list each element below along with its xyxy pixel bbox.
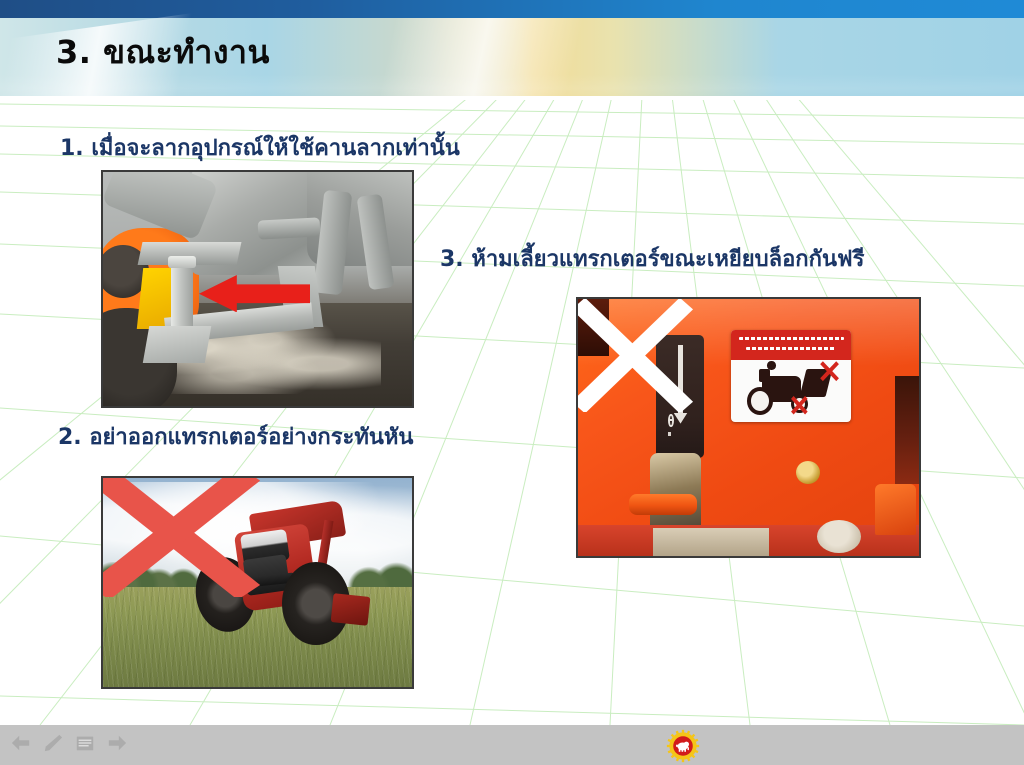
differential-lock-pedal-photo[interactable] (576, 297, 921, 558)
photo-3-content (578, 299, 919, 556)
red-x-annotation-icon (101, 476, 264, 597)
photo-3-brass-bolt (796, 461, 820, 484)
red-arrow-annotation-icon (199, 275, 310, 312)
slide-menu-icon[interactable] (74, 733, 96, 753)
decal-x-mark-lower-icon (791, 396, 808, 415)
photo-2-rear-implement (330, 593, 370, 626)
photo-1-pto-shaft (257, 217, 320, 239)
photo-1-drawbar-bracket (143, 326, 211, 363)
photo-3-decal-part-number (668, 432, 673, 436)
previous-slide-icon[interactable] (10, 733, 32, 753)
pictogram-operator-head (767, 361, 775, 369)
pen-annotation-icon[interactable] (42, 733, 64, 753)
next-slide-icon[interactable] (106, 733, 128, 753)
photo-1-hitch-pin (171, 261, 193, 331)
header-underline (0, 96, 1024, 100)
presentation-slide: 3. ขณะทำงาน 1. เมื่อจะลากอุปกรณ์ให้ใช้คา… (0, 0, 1024, 765)
header-top-band (0, 0, 1024, 18)
photo-3-warning-decal-header (731, 330, 850, 361)
point-3-caption: 3. ห้ามเลี้ยวแทรกเตอร์ขณะเหยียบล็อกกันฟร… (440, 247, 864, 272)
photo-3-warning-decal (731, 330, 850, 423)
photo-1-content (103, 172, 412, 406)
point-2-caption: 2. อย่าออกแทรกเตอร์อย่างกระทันหัน (58, 425, 413, 450)
pictogram-seat (759, 369, 770, 382)
photo-1-hitch-pin-head (168, 256, 196, 268)
photo-2-content (103, 478, 412, 687)
decal-x-mark-upper-icon (820, 361, 839, 381)
photo-3-diff-lock-pedal (629, 494, 697, 515)
photo-3-floor-plate (653, 528, 769, 556)
slideshow-toolbar (0, 725, 1024, 765)
white-x-annotation-icon (576, 299, 694, 412)
differential-lock-symbol-icon (668, 414, 674, 428)
slideshow-toolbar-icons (10, 733, 128, 753)
elephant-gear-brand-logo[interactable] (666, 729, 700, 763)
warning-text-line-1 (739, 337, 844, 341)
point-1-caption: 1. เมื่อจะลากอุปกรณ์ให้ใช้คานลากเท่านั้น (60, 136, 460, 161)
photo-3-fender-corner (875, 484, 916, 535)
tractor-wheelie-field-photo[interactable] (101, 476, 414, 689)
photo-3-shadow-right (895, 376, 919, 484)
tractor-drawbar-hitch-photo[interactable] (101, 170, 414, 408)
page-title: 3. ขณะทำงาน (56, 35, 270, 70)
warning-text-line-2 (746, 347, 837, 351)
pictogram-rear-wheel (747, 387, 773, 415)
